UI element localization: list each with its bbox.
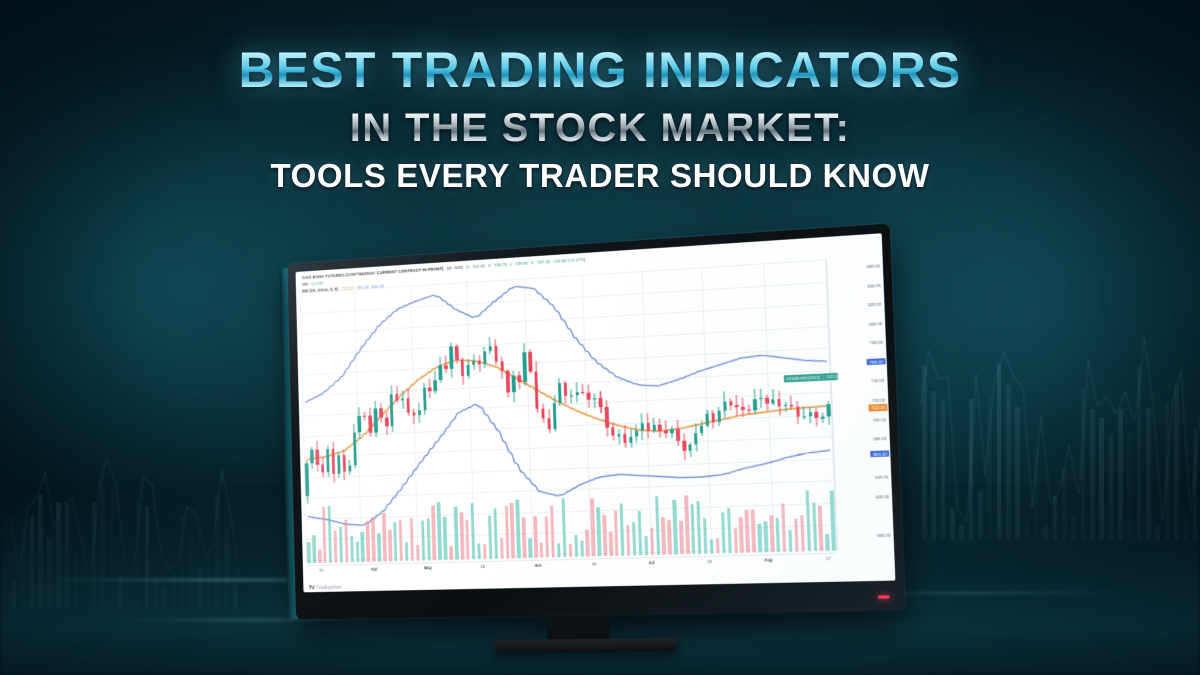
time-axis-tick: Jun (534, 563, 541, 568)
candlestick-body (418, 410, 421, 415)
time-axis-tick: Apr (371, 567, 378, 572)
monitor-stand-base (494, 638, 679, 653)
candlestick-wick (445, 355, 446, 372)
candlestick-body (682, 441, 686, 452)
candlestick-body (518, 375, 521, 382)
volume-bar (733, 529, 737, 553)
badge-symbol-name: AXISBANK{2023} (786, 375, 820, 382)
candlestick (624, 272, 637, 550)
candlestick-wick (618, 429, 619, 445)
candlestick-body (332, 449, 336, 474)
candlestick-wick (785, 402, 786, 412)
volume-bar (812, 503, 817, 552)
candlestick-body (753, 399, 757, 410)
volume-bar (667, 520, 672, 554)
candlestick (815, 260, 829, 546)
candlestick-body (623, 434, 627, 443)
volume-bar (540, 543, 544, 558)
legend-bb-lower: 664.10 (371, 283, 384, 290)
volume-bar (465, 520, 469, 559)
candlestick (809, 260, 823, 546)
candlestick (676, 269, 689, 549)
candlestick (730, 265, 744, 548)
candlestick-body (541, 409, 545, 418)
candlestick-body (395, 394, 398, 400)
candlestick-body (658, 425, 662, 431)
legend-low-value: 729.00 (515, 261, 528, 269)
candlestick-wick (736, 394, 738, 416)
candlestick (748, 264, 762, 547)
candlestick-body (483, 351, 487, 364)
tradingview-name: TradingView (316, 585, 341, 591)
candlestick-wick (822, 412, 823, 423)
gridline-vertical (763, 263, 775, 552)
candlestick-wick (748, 405, 749, 415)
volume-bar (356, 541, 360, 562)
candlestick-body (374, 409, 378, 433)
volume-bar (318, 549, 321, 563)
candlestick (671, 269, 684, 549)
gridline-vertical (702, 267, 713, 553)
time-axis-tick: 17 (826, 556, 831, 561)
volume-bar (788, 530, 792, 552)
candlestick-body (449, 346, 453, 369)
candlestick-wick (754, 389, 756, 415)
candlestick-body (646, 423, 650, 432)
candlestick (682, 268, 695, 549)
candlestick (694, 268, 707, 549)
candlestick (700, 267, 713, 548)
volume-bar (569, 544, 573, 557)
candlestick-body (439, 365, 443, 380)
price-axis-tick: 840.00 (867, 283, 880, 289)
legend-bb-mid: 712.10 (341, 285, 354, 292)
volume-bar (361, 532, 365, 562)
candlestick-wick (624, 425, 626, 448)
volume-bar (393, 522, 397, 561)
candlestick-body (729, 401, 733, 405)
gridline-vertical (825, 259, 837, 550)
volume-bar (661, 517, 666, 555)
candlestick-body (423, 387, 427, 409)
last-price-badge[interactable]: AXISBANK{2023}|747.10 (784, 373, 838, 383)
legend-interval: 1D (446, 266, 452, 273)
candlestick-body (506, 371, 510, 392)
volume-bar (769, 515, 774, 552)
candlestick (742, 265, 756, 548)
volume-bar (684, 495, 689, 554)
gridline-vertical (642, 271, 653, 555)
candlestick-body (315, 449, 319, 465)
volume-bar (410, 517, 414, 560)
candlestick-wick (677, 419, 679, 446)
candlestick-body (617, 435, 620, 436)
candlestick-body (599, 398, 603, 407)
candlestick-body (342, 455, 346, 472)
candlestick-body (784, 405, 788, 406)
volume-bar (626, 526, 630, 556)
monitor-screen[interactable]: AXIS BANK FUTURES (CONTINUOUS: CURRENT C… (296, 233, 896, 592)
candlestick-wick (594, 393, 595, 408)
volume-bar (590, 498, 595, 557)
volume-bar (696, 501, 701, 554)
candlestick-body (670, 429, 674, 433)
volume-bar (710, 539, 714, 554)
candlestick-wick (730, 398, 731, 410)
volume-bar (371, 517, 375, 562)
volume-bar (432, 506, 437, 561)
candlestick (760, 263, 774, 547)
monitor-bezel: AXIS BANK FUTURES (CONTINUOUS: CURRENT C… (287, 223, 905, 619)
candlestick-wick (706, 409, 708, 427)
time-axis-tick: Aug (764, 557, 773, 562)
volume-bar (477, 544, 481, 560)
volume-bar (739, 517, 744, 553)
candlestick-wick (778, 391, 780, 416)
candlestick-wick (647, 413, 649, 437)
volume-bar (471, 503, 476, 559)
time-axis-tick: 16 (480, 564, 485, 569)
candlestick-body (528, 351, 532, 371)
candlestick-body (808, 412, 812, 416)
candlestick-body (640, 423, 644, 431)
volume-bar (405, 543, 409, 561)
candlestick-wick (766, 394, 768, 410)
headline-tertiary: TOOLS EVERY TRADER SHOULD KNOW (0, 157, 1200, 195)
candlestick-body (547, 418, 551, 429)
candlestick-body (467, 365, 471, 376)
candlestick-body (401, 398, 404, 400)
candlestick (665, 269, 678, 549)
volume-bar (727, 509, 732, 554)
volume-bar (350, 536, 354, 563)
candlestick-wick (683, 434, 685, 461)
volume-bar (637, 511, 642, 555)
price-axis-tick: 720.00 (872, 398, 885, 404)
volume-bar (794, 519, 799, 552)
candlestick (647, 271, 660, 550)
volume-bar (312, 535, 316, 563)
candlestick-wick (636, 425, 638, 443)
candlestick-wick (402, 391, 403, 410)
volume-bar (632, 522, 636, 555)
candlestick (718, 266, 731, 548)
candlestick-body (815, 412, 819, 419)
price-axis-tick: 800.00 (869, 321, 882, 327)
volume-bar (650, 528, 654, 555)
legend-exchange: NSE (455, 265, 464, 272)
candlestick (821, 260, 835, 546)
volume-bar (388, 530, 392, 561)
candlestick-wick (671, 426, 672, 438)
candlestick-body (611, 427, 615, 435)
candlestick-wick (724, 391, 726, 418)
candlestick-body (790, 405, 794, 407)
candlestick-body (348, 466, 351, 472)
legend-open-value: 712.40 (472, 263, 485, 271)
volume-bar (510, 503, 515, 558)
volume-bar (781, 504, 786, 552)
price-axis-tick: 640.00 (875, 474, 888, 480)
volume-bar (691, 504, 696, 554)
candlestick-body (688, 444, 692, 450)
volume-bar (504, 506, 509, 558)
price-axis-tick: 680.00 (873, 436, 886, 442)
volume-bar (825, 534, 829, 551)
volume-bar (757, 524, 762, 553)
candlestick (772, 263, 786, 547)
candlestick-body (500, 362, 504, 372)
candlestick (784, 262, 798, 547)
volume-badge[interactable]: 15.29K (875, 588, 894, 592)
volume-bar (545, 516, 550, 557)
volume-bar (655, 497, 660, 555)
volume-bar (776, 518, 781, 552)
time-axis-tick: May (424, 565, 432, 570)
candlestick-body (488, 346, 491, 351)
candlestick-body (723, 401, 727, 410)
candlestick-wick (413, 409, 414, 424)
time-axis-tick: 15 (707, 559, 712, 564)
candlestick-body (385, 418, 388, 427)
candlestick (653, 270, 666, 550)
volume-bar (830, 490, 836, 551)
candlestick-body (629, 436, 633, 443)
candlestick-body (369, 415, 373, 433)
legend-low-label: L (510, 262, 513, 269)
candlestick-body (705, 413, 709, 425)
volume-bar (745, 510, 750, 553)
candlestick-body (337, 455, 341, 474)
candlestick-body (700, 425, 704, 432)
candlestick-wick (718, 407, 720, 426)
candlestick-body (652, 425, 656, 431)
volume-bar (673, 499, 678, 554)
volume-bar (580, 541, 584, 557)
time-axis-tick: Jul (648, 560, 654, 565)
bb-mid-badge[interactable]: 712.10 (869, 404, 888, 412)
candlestick-wick (797, 401, 799, 424)
volume-bar (800, 515, 805, 551)
candlestick-body (777, 399, 781, 407)
candlestick-wick (791, 396, 793, 410)
candlestick (688, 268, 701, 549)
price-axis-tick: 740.00 (871, 378, 884, 384)
volume-bar (721, 513, 726, 553)
candlestick-body (587, 393, 591, 400)
volume-bar (550, 505, 555, 557)
volume-bar (488, 516, 493, 559)
candlestick (635, 271, 648, 550)
volume-bar (602, 515, 607, 557)
legend-close-label: C (531, 260, 534, 267)
candlestick-body (472, 361, 475, 365)
legend-open-label: O (466, 264, 469, 271)
legend-high-value: 746.75 (494, 262, 507, 270)
volume-bar (679, 521, 684, 555)
candlestick (797, 261, 811, 546)
candlestick (724, 266, 738, 548)
candlestick-body (512, 375, 516, 392)
candlestick-body (821, 417, 825, 418)
price-axis-tick: 820.00 (868, 302, 881, 308)
candlestick-wick (571, 390, 572, 403)
candlestick-wick (665, 420, 667, 439)
candlestick-body (406, 398, 410, 413)
candlestick-body (676, 429, 680, 441)
volume-bar (443, 517, 447, 560)
volume-bar (449, 546, 453, 560)
candlestick-body (358, 416, 362, 433)
price-axis-tick: 580.00 (877, 532, 890, 538)
volume-bar (483, 544, 487, 559)
candlestick-wick (630, 429, 632, 447)
candlestick (712, 266, 725, 548)
headline-primary: BEST TRADING INDICATORS (0, 44, 1200, 97)
candlestick (659, 270, 672, 550)
candlestick-wick (760, 389, 762, 409)
volume-bar (614, 511, 619, 556)
volume-bar (399, 520, 403, 561)
candlestick (754, 264, 768, 547)
candlestick-wick (695, 423, 697, 451)
candlestick-body (827, 404, 831, 417)
candlestick-body (759, 398, 763, 399)
candlestick (791, 261, 805, 546)
volume-bar (377, 534, 381, 562)
candlestick-body (694, 433, 698, 444)
bb-upper-badge[interactable]: 760.10 (867, 358, 886, 366)
candlestick (803, 261, 817, 546)
candlestick-body (428, 387, 431, 391)
volume-bar (596, 507, 601, 556)
volume-bar (818, 505, 823, 551)
volume-bar (382, 512, 386, 561)
volume-bar (328, 506, 333, 563)
volume-bar (366, 521, 370, 562)
bb-lower-badge[interactable]: 664.10 (871, 450, 890, 458)
volume-bar (460, 512, 465, 559)
candlestick-body (455, 346, 459, 359)
candlestick-body (563, 383, 567, 396)
candlestick-wick (816, 407, 818, 426)
candlestick-body (717, 410, 721, 422)
volume-bar (437, 502, 442, 560)
candlestick-wick (653, 418, 655, 434)
candlestick-wick (659, 419, 661, 438)
candlestick-body (444, 365, 447, 369)
tradingview-mark: TV (309, 585, 315, 591)
badge-price-value: 747.10 (826, 374, 840, 380)
volume-bar (763, 521, 768, 552)
price-axis[interactable]: 860.00840.00820.00800.00780.00740.00720.… (826, 256, 894, 551)
volume-bar (421, 520, 425, 560)
candlestick-wick (582, 384, 583, 395)
volume-bar (334, 531, 338, 563)
volume-bar (805, 490, 811, 551)
legend-close-value: 747.10 (537, 259, 550, 267)
volume-bar (339, 527, 343, 562)
candlestick-body (363, 415, 366, 416)
volume-bar (322, 506, 327, 562)
candlestick-wick (742, 397, 744, 417)
candlestick (641, 271, 654, 550)
candlestick-body (326, 449, 330, 472)
volume-bar (307, 542, 311, 563)
candlestick-body (570, 395, 573, 396)
candlestick-body (412, 413, 415, 416)
title-block: BEST TRADING INDICATORS IN THE STOCK MAR… (0, 44, 1200, 195)
volume-bar (561, 498, 566, 557)
candlestick-body (735, 405, 739, 408)
legend-high-label: H (488, 263, 491, 270)
candlestick-body (741, 407, 745, 410)
candlestick-body (765, 398, 769, 403)
candlestick-body (635, 431, 639, 436)
candlestick-body (575, 392, 578, 395)
candlestick-body (478, 360, 481, 364)
volume-bar (516, 500, 521, 559)
candlestick-body (434, 380, 437, 391)
candlestick-body (796, 406, 800, 417)
volume-bar (585, 529, 589, 557)
candlestick-wick (712, 410, 714, 429)
volume-bar (716, 539, 720, 554)
candlestick-body (461, 359, 465, 376)
time-axis-tick: 20 (592, 561, 597, 566)
volume-bar (609, 532, 613, 556)
candlestick-body (711, 413, 715, 423)
candlestick (778, 262, 792, 546)
volume-bar (557, 543, 561, 557)
power-led-indicator (878, 595, 890, 598)
volume-bar (344, 519, 348, 562)
price-axis-tick: 700.00 (872, 417, 885, 423)
legend-bb-upper: 760.10 (356, 284, 369, 291)
volume-bar (574, 535, 578, 557)
volume-bar (533, 516, 538, 558)
candlestick (736, 265, 750, 548)
candlestick-body (321, 465, 324, 473)
headline-secondary: IN THE STOCK MARKET: (0, 107, 1200, 150)
candlestick-body (310, 449, 313, 463)
volume-bar (416, 545, 420, 561)
candlestick-wick (803, 406, 805, 420)
candlestick-body (771, 399, 775, 403)
candlestick-body (747, 410, 751, 411)
volume-bar (528, 538, 532, 558)
candlestick-body (379, 408, 382, 418)
volume-bar (426, 518, 430, 561)
time-axis-tick: 21 (319, 568, 323, 573)
tradingview-logo: TV TradingView (309, 585, 342, 591)
candlestick-body (494, 346, 498, 363)
candlestick-body (664, 430, 668, 434)
candlestick (706, 267, 719, 549)
candlestick-wick (690, 442, 692, 457)
candlestick (629, 272, 642, 551)
candlestick-wick (772, 389, 774, 405)
volume-bar (454, 507, 459, 560)
candlestick-wick (641, 413, 643, 441)
volume-bar (703, 518, 708, 554)
candlestick-body (558, 383, 562, 403)
volume-bar (644, 536, 648, 555)
volume-bar (522, 517, 527, 558)
candlestick-wick (701, 421, 703, 436)
candlestick-body (802, 416, 806, 417)
volume-bar (751, 509, 756, 553)
